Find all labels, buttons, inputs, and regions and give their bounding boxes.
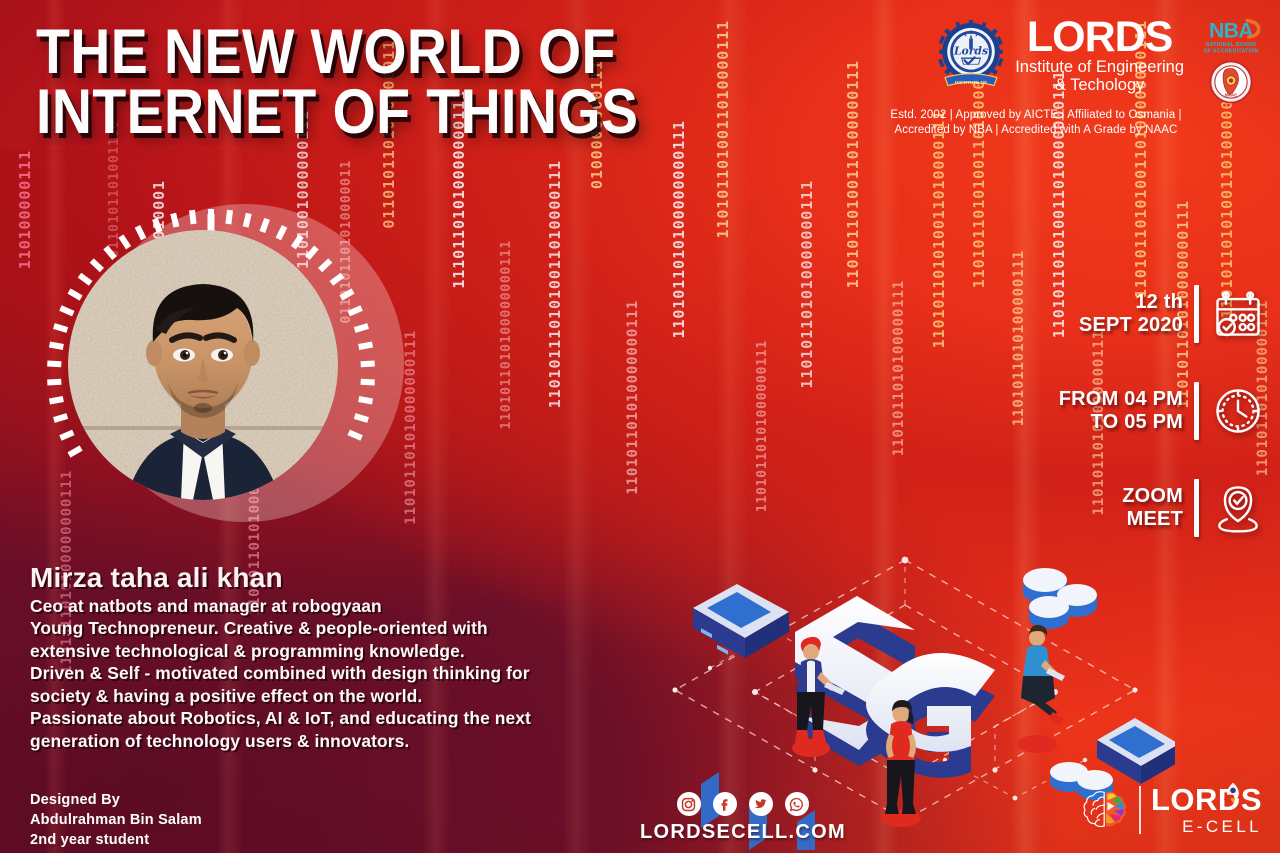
- lords-institute-logo: Lords INSTITUTE OF LORDS Institute of En…: [935, 14, 1270, 104]
- ring-tick: [47, 364, 61, 365]
- speaker-bio-line: generation of technology users & innovat…: [30, 730, 630, 752]
- svg-text:OF ACCREDITATION: OF ACCREDITATION: [1203, 49, 1258, 55]
- ring-tick: [69, 448, 81, 455]
- event-line: TO 05 PM: [1059, 411, 1183, 434]
- credit-line: Designed By: [30, 790, 202, 810]
- ring-tick: [331, 275, 342, 283]
- naac-badge-icon: NAAC: [1209, 60, 1253, 104]
- institute-line-2: & Techology: [1015, 76, 1184, 94]
- poster-title: THE NEW WORLD OF INTERNET OF THINGS: [36, 22, 638, 143]
- ring-tick: [228, 210, 230, 224]
- event-row-date: 12 thSEPT 2020: [994, 285, 1266, 343]
- ring-tick: [69, 291, 81, 298]
- ring-tick: [54, 326, 67, 330]
- ecell-brand: LORDS: [1151, 784, 1262, 815]
- speaker-name: Mirza taha ali khan: [30, 562, 630, 594]
- lords-brand-text: LORDS: [1027, 18, 1173, 57]
- ring-tick: [60, 308, 73, 314]
- event-row-time: FROM 04 PMTO 05 PM: [994, 382, 1266, 440]
- brain-icon: [1081, 786, 1129, 834]
- accreditation-badges: NBA NATIONAL BOARD OF ACCREDITATION NAAC: [1192, 14, 1270, 104]
- event-line: 12 th: [1079, 291, 1183, 314]
- ring-tick: [262, 219, 267, 232]
- designer-credits: Designed ByAbdulrahman Bin Salam2nd year…: [30, 790, 202, 850]
- rocket-icon: [1220, 780, 1246, 806]
- ring-tick: [355, 416, 368, 420]
- ring-tick: [47, 382, 61, 383]
- speaker-bio: Ceo at natbots and manager at robogyaanY…: [30, 595, 630, 752]
- ring-tick: [278, 226, 284, 239]
- title-line-1: THE NEW WORLD OF: [36, 22, 638, 82]
- svg-text:NATIONAL BOARD: NATIONAL BOARD: [1206, 42, 1257, 48]
- event-line: ZOOM: [1122, 485, 1183, 508]
- nba-badge-icon: NBA NATIONAL BOARD OF ACCREDITATION: [1192, 16, 1270, 58]
- institute-line-1: Institute of Engineering: [1015, 58, 1184, 76]
- accreditation-line-2: Accredited by NBA | Accredited with A Gr…: [806, 123, 1266, 138]
- ecell-wordmark: LORDS E-CELL: [1151, 784, 1262, 835]
- ring-tick: [246, 213, 249, 227]
- ring-tick: [361, 382, 375, 383]
- svg-text:INSTITUTE OF: INSTITUTE OF: [955, 80, 987, 85]
- event-divider-bar: [1194, 285, 1199, 343]
- speaker-bio-line: Ceo at natbots and manager at robogyaan: [30, 595, 630, 617]
- svg-text:NAAC: NAAC: [1225, 93, 1239, 98]
- credit-line: 2nd year student: [30, 830, 202, 850]
- speaker-bio-line: extensive technological & programming kn…: [30, 640, 630, 662]
- website-url[interactable]: LORDSECELL.COM: [640, 821, 846, 844]
- lords-ecell-logo: LORDS E-CELL: [1081, 784, 1262, 835]
- ring-tick: [106, 247, 115, 258]
- twitter-icon[interactable]: [749, 792, 773, 816]
- accreditation-line-1: Estd. 2002 | Approved by AICTE | Affilia…: [806, 108, 1266, 123]
- ecell-divider: [1139, 786, 1141, 834]
- social-footer: LORDSECELL.COM: [640, 792, 846, 844]
- event-line: MEET: [1122, 508, 1183, 531]
- ring-tick: [293, 236, 301, 248]
- ring-tick: [50, 399, 64, 402]
- speaker-bio-line: Passionate about Robotics, AI & IoT, and…: [30, 707, 630, 729]
- ring-tick: [359, 399, 373, 402]
- speaker-photo-block: [46, 208, 376, 538]
- instagram-icon[interactable]: [677, 792, 701, 816]
- event-divider-bar: [1194, 382, 1199, 440]
- ring-tick: [60, 432, 73, 438]
- ring-tick: [307, 247, 316, 258]
- ring-tick: [54, 416, 67, 420]
- ring-tick: [341, 291, 353, 298]
- credit-line: Abdulrahman Bin Salam: [30, 810, 202, 830]
- event-text-venue: ZOOMMEET: [1122, 485, 1183, 531]
- title-line-2: INTERNET OF THINGS: [36, 82, 638, 142]
- speaker-details: Mirza taha ali khan Ceo at natbots and m…: [30, 562, 630, 752]
- institute-subtitle: Institute of Engineering & Techology: [1015, 58, 1184, 95]
- speaker-bio-line: Driven & Self - motivated combined with …: [30, 662, 630, 684]
- accreditation-text: Estd. 2002 | Approved by AICTE | Affilia…: [806, 108, 1266, 137]
- ring-tick: [349, 432, 362, 438]
- ring-tick: [121, 236, 129, 248]
- speaker-bio-line: society & having a positive effect on th…: [30, 685, 630, 707]
- ring-tick: [359, 345, 373, 348]
- ecell-subtitle: E-CELL: [1182, 818, 1262, 835]
- event-details-list: 12 thSEPT 2020FROM 04 PMTO 05 PMZOOMMEET: [994, 285, 1266, 537]
- ring-tick: [349, 308, 362, 314]
- ring-tick: [192, 210, 194, 224]
- event-row-venue: ZOOMMEET: [994, 479, 1266, 537]
- ring-tick: [173, 213, 176, 227]
- speaker-portrait: [68, 230, 338, 500]
- ring-tick: [137, 226, 143, 239]
- location-pin-check-icon: [1210, 480, 1266, 536]
- event-text-time: FROM 04 PMTO 05 PM: [1059, 388, 1183, 434]
- whatsapp-icon[interactable]: [785, 792, 809, 816]
- clock-icon: [1210, 383, 1266, 439]
- ring-tick: [355, 326, 368, 330]
- speaker-bio-line: Young Technopreneur. Creative & people-o…: [30, 617, 630, 639]
- social-icon-list: [677, 792, 809, 816]
- calendar-icon: [1210, 286, 1266, 342]
- ring-tick: [320, 261, 330, 271]
- event-line: SEPT 2020: [1079, 314, 1183, 337]
- lords-gear-seal-icon: Lords INSTITUTE OF: [935, 20, 1007, 92]
- poster-canvas: 1101000001111101011010100000000111011010…: [0, 0, 1280, 853]
- svg-text:Lords: Lords: [953, 45, 988, 58]
- ring-tick: [80, 275, 91, 283]
- event-text-date: 12 thSEPT 2020: [1079, 291, 1183, 337]
- ring-tick: [361, 364, 375, 365]
- ring-tick: [155, 219, 160, 232]
- event-line: FROM 04 PM: [1059, 388, 1183, 411]
- ring-tick: [50, 345, 64, 348]
- event-divider-bar: [1194, 479, 1199, 537]
- lords-wordmark-block: LORDS Institute of Engineering & Techolo…: [1015, 14, 1184, 95]
- facebook-icon[interactable]: [713, 792, 737, 816]
- ring-tick: [92, 261, 102, 271]
